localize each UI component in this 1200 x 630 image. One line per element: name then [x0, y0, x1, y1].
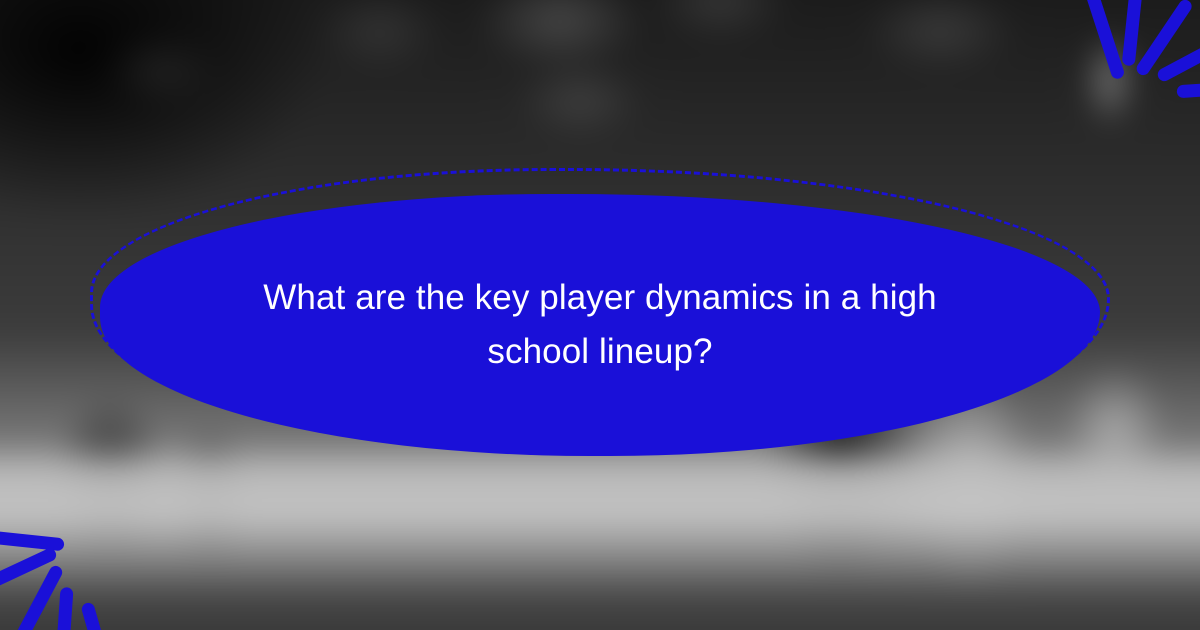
social-card-canvas: What are the key player dynamics in a hi… — [0, 0, 1200, 630]
question-text: What are the key player dynamics in a hi… — [230, 271, 970, 380]
question-card: What are the key player dynamics in a hi… — [100, 180, 1100, 455]
card-fill: What are the key player dynamics in a hi… — [100, 194, 1100, 456]
